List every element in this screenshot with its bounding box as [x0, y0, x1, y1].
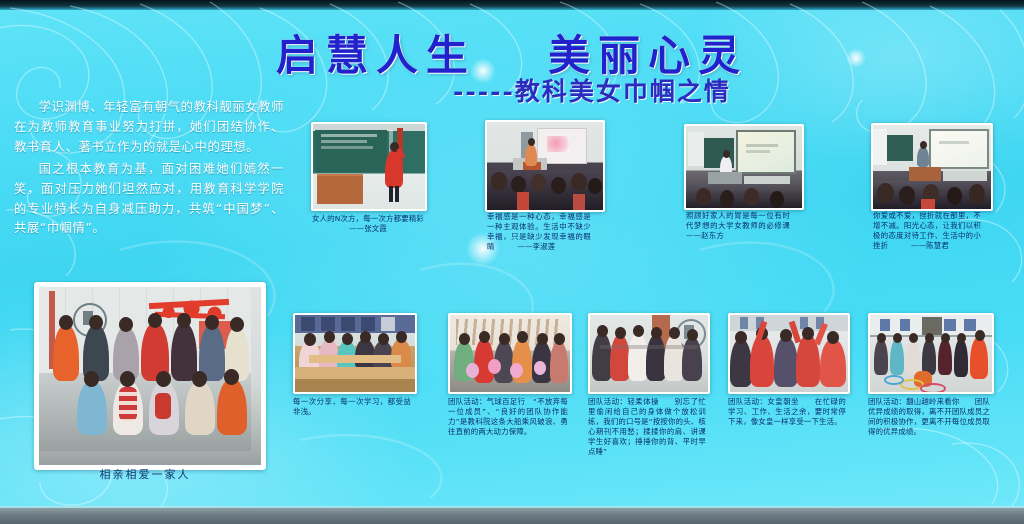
caption-group-family: 相亲相爱一家人 — [34, 466, 256, 482]
group-family-photo[interactable] — [34, 282, 266, 470]
caption-hill-crossing: 团队活动：翻山越岭来看你 团队优异成绩的取得，离不开团队成员之间的积极协作，更离… — [868, 397, 990, 437]
intro-paragraph-1: 学识渊博、年轻富有朝气的教科靓丽女教师在为教师教育事业努力打拼，她们团结协作、教… — [14, 98, 284, 158]
subtitle-text: -----教科美女巾帼之情 — [453, 72, 731, 108]
caption-queen-sitting: 团队活动：女皇朝坐 在忙碌的学习、工作、生活之余，要时常停下来，像女皇一样享受一… — [728, 397, 846, 427]
balloon-game-photo[interactable] — [448, 313, 572, 394]
floor-strip — [0, 508, 1024, 524]
queen-sitting-photo[interactable] — [728, 313, 850, 394]
caption-balloon-game: 团队活动：气球百足行 “不放弃每一位成员”、“良好的团队协作能力”是教科院这条大… — [448, 397, 568, 437]
caption-classroom-lecture: 你爱或不爱，挫折就在那里，不增不减。阳光心态，让我们以积极的态度对待工作、生活中… — [873, 211, 981, 251]
wall-shadow-strip — [0, 0, 1024, 10]
caption-classroom-blackboard: 女人的N次方，每一次方都要精彩 ——张文霞 — [305, 214, 431, 234]
classroom-lecture-photo[interactable] — [871, 123, 993, 211]
hill-crossing-photo[interactable] — [868, 313, 994, 394]
caption-gentle-exercise: 团队活动：轻柔体操 别忘了忙里偷闲给自己的身体做个放松训练，我们的口号是“按按你… — [588, 397, 706, 457]
poster-board: 启慧人生 美丽心灵 -----教科美女巾帼之情 学识渊博、年轻富有朝气的教科靓丽… — [0, 0, 1024, 524]
classroom-blackboard-photo[interactable] — [311, 122, 427, 211]
lecture-audience-photo[interactable] — [485, 120, 605, 212]
caption-presentation-projector: 照顾好家人的胃是每一位有时代梦想的大学女教师的必修课 ——赵东方 — [686, 211, 790, 241]
intro-paragraph-2: 国之根本教育为基，面对困难她们嫣然一笑，面对压力她们坦然应对，用教育科学学院的专… — [14, 160, 284, 240]
intro-text-block: 学识渊博、年轻富有朝气的教科靓丽女教师在为教师教育事业努力打拼，她们团结协作、教… — [14, 98, 284, 241]
seminar-table-photo[interactable] — [293, 313, 417, 394]
presentation-projector-photo[interactable] — [684, 124, 804, 210]
gentle-exercise-photo[interactable] — [588, 313, 710, 394]
caption-lecture-audience: 幸福感是一种心态，幸福感是一种主观体验。生活中不缺少幸福，只是缺少发现幸福的眼睛… — [487, 212, 591, 252]
caption-seminar-table: 每一次分享，每一次学习，都受益非浅。 — [293, 397, 411, 417]
